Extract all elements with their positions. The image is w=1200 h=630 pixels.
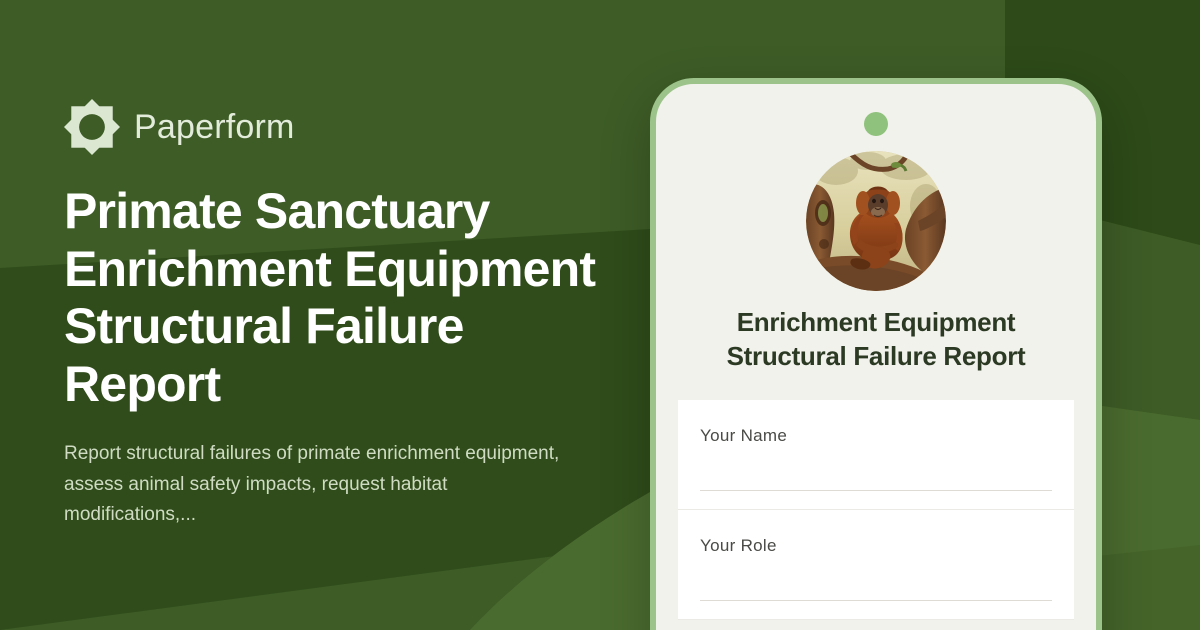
brand-name: Paperform: [134, 110, 295, 144]
field-input-your-name[interactable]: [700, 490, 1052, 491]
form-field-your-role[interactable]: Your Role: [678, 510, 1074, 620]
page-title: Primate Sanctuary Enrichment Equipment S…: [64, 183, 624, 413]
form-title: Enrichment Equipment Structural Failure …: [676, 306, 1076, 374]
brand-lockup: Paperform: [64, 99, 624, 155]
camera-dot-icon: [864, 112, 888, 136]
field-input-your-role[interactable]: [700, 600, 1052, 601]
paperform-rosette-icon: [64, 99, 120, 155]
field-label-your-role: Your Role: [700, 536, 1052, 556]
hero-content: Paperform Primate Sanctuary Enrichment E…: [64, 0, 624, 630]
form-field-your-name[interactable]: Your Name: [678, 400, 1074, 510]
phone-mockup: Enrichment Equipment Structural Failure …: [650, 78, 1102, 630]
og-image-canvas: Paperform Primate Sanctuary Enrichment E…: [0, 0, 1200, 630]
page-description: Report structural failures of primate en…: [64, 439, 564, 530]
form-fields: Your Name Your Role: [678, 400, 1074, 620]
orangutan-in-tree-photo: [806, 151, 946, 291]
field-label-your-name: Your Name: [700, 426, 1052, 446]
